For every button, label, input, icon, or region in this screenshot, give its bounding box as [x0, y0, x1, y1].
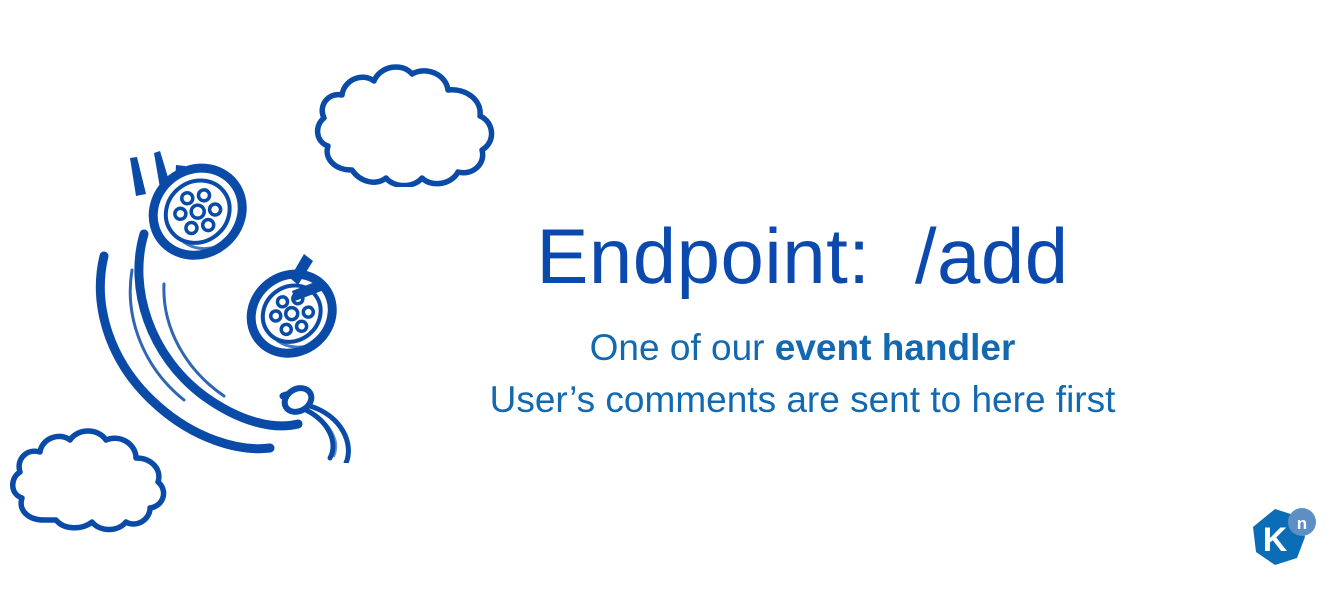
slide-subtitle: One of our event handler User’s comments…: [430, 322, 1175, 427]
page-title: Endpoint: /add: [430, 215, 1175, 298]
slide-canvas: Endpoint: /add One of our event handler …: [0, 0, 1343, 595]
subtitle-line-1-emphasis: event handler: [775, 327, 1016, 368]
logo-badge-letter: n: [1297, 514, 1307, 533]
slide-text-block: Endpoint: /add One of our event handler …: [430, 215, 1175, 427]
subtitle-line-2: User’s comments are sent to here first: [430, 374, 1175, 427]
cloud-icon: [2, 424, 172, 534]
kn-logo: K n: [1247, 507, 1319, 577]
subtitle-line-1-prefix: One of our: [590, 327, 775, 368]
ringing-telephone-handset-icon: [58, 138, 388, 463]
cloud-icon: [310, 62, 500, 187]
logo-mark-letter: K: [1263, 521, 1288, 559]
subtitle-line-1: One of our event handler: [430, 322, 1175, 375]
